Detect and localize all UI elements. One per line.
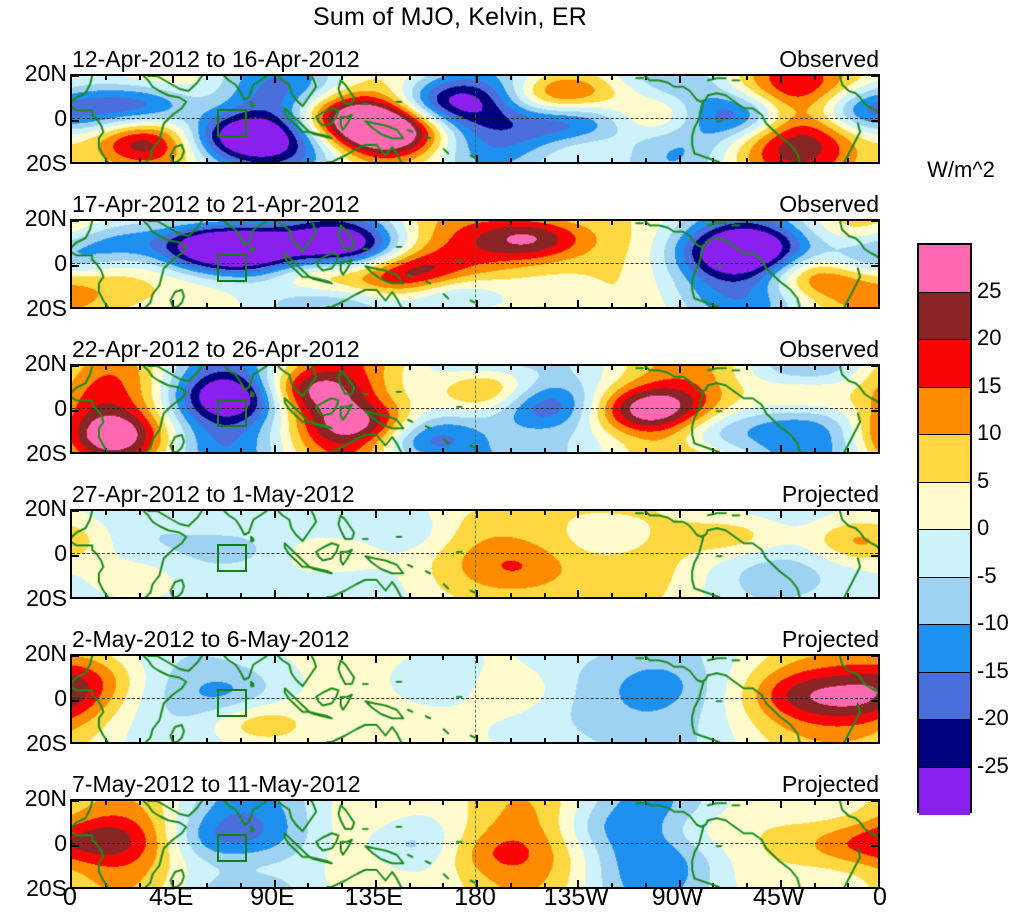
- map-panel: 12-Apr-2012 to 16-Apr-2012Observed20N020…: [70, 74, 880, 164]
- panel-date-range: 2-May-2012 to 6-May-2012: [72, 626, 349, 652]
- map-plot-area: [70, 364, 880, 454]
- colorbar-tick-label: -15: [977, 660, 1021, 682]
- panel-date-range: 12-Apr-2012 to 16-Apr-2012: [72, 46, 360, 72]
- colorbar-band: [919, 293, 970, 341]
- region-box-marker: [217, 689, 247, 717]
- x-axis-tick-label: 135E: [329, 884, 419, 910]
- map-plot-area: [70, 74, 880, 164]
- region-box-marker: [217, 544, 247, 572]
- x-axis-tick-label: 90E: [228, 884, 318, 910]
- region-box-marker: [217, 399, 247, 427]
- panel-status-label: Projected: [782, 481, 879, 507]
- colorbar-band: [919, 673, 970, 721]
- colorbar-band: [919, 435, 970, 483]
- colorbar-tick-label: -20: [977, 707, 1021, 729]
- panel-date-range: 22-Apr-2012 to 26-Apr-2012: [72, 336, 360, 362]
- colorbar-tick-label: 20: [977, 327, 1021, 349]
- map-plot-area: [70, 799, 880, 889]
- y-axis-tick-label: 0: [0, 397, 67, 420]
- colorbar-tick-label: 5: [977, 470, 1021, 492]
- y-axis-tick-label: 0: [0, 252, 67, 275]
- x-axis-tick-label: 45E: [126, 884, 216, 910]
- colorbar-tick-label: -5: [977, 565, 1021, 587]
- y-axis-tick-label: 20S: [0, 297, 67, 320]
- coastline-overlay: [72, 366, 878, 452]
- x-axis-tick-label: 90W: [633, 884, 723, 910]
- region-box-marker: [217, 834, 247, 862]
- y-axis-tick-label: 20N: [0, 787, 67, 810]
- y-axis-tick-label: 0: [0, 107, 67, 130]
- colorbar-units-label: W/m^2: [905, 158, 1017, 182]
- colorbar-tick-label: 0: [977, 517, 1021, 539]
- y-axis-tick-label: 0: [0, 832, 67, 855]
- map-plot-area: [70, 219, 880, 309]
- panel-status-label: Observed: [779, 336, 879, 362]
- x-axis-tick-label: 0: [835, 884, 925, 910]
- y-axis-tick-label: 20S: [0, 152, 67, 175]
- colorbar-band: [919, 720, 970, 768]
- colorbar: [917, 243, 972, 813]
- map-panel: 2-May-2012 to 6-May-2012Projected20N020S: [70, 654, 880, 744]
- x-axis-tick-label: 180: [430, 884, 520, 910]
- map-panel: 22-Apr-2012 to 26-Apr-2012Observed20N020…: [70, 364, 880, 454]
- y-axis-tick-label: 20N: [0, 352, 67, 375]
- y-axis-tick-label: 20S: [0, 732, 67, 755]
- colorbar-band: [919, 578, 970, 626]
- x-axis-tick-label: 45W: [734, 884, 824, 910]
- colorbar-tick-label: 25: [977, 280, 1021, 302]
- coastline-overlay: [72, 801, 878, 887]
- x-axis-tick-label: 135W: [531, 884, 621, 910]
- colorbar-tick-label: 15: [977, 375, 1021, 397]
- panel-status-label: Projected: [782, 771, 879, 797]
- region-box-marker: [217, 109, 247, 137]
- panel-date-range: 7-May-2012 to 11-May-2012: [72, 771, 361, 797]
- panel-status-label: Projected: [782, 626, 879, 652]
- colorbar-band: [919, 625, 970, 673]
- colorbar-band: [919, 768, 970, 816]
- coastline-overlay: [72, 656, 878, 742]
- colorbar-band: [919, 388, 970, 436]
- panel-date-range: 27-Apr-2012 to 1-May-2012: [72, 481, 355, 507]
- coastline-overlay: [72, 511, 878, 597]
- y-axis-tick-label: 0: [0, 687, 67, 710]
- map-panel: 27-Apr-2012 to 1-May-2012Projected20N020…: [70, 509, 880, 599]
- figure-canvas: Sum of MJO, Kelvin, ER 12-Apr-2012 to 16…: [0, 0, 1021, 921]
- panel-status-label: Observed: [779, 191, 879, 217]
- map-panel: 17-Apr-2012 to 21-Apr-2012Observed20N020…: [70, 219, 880, 309]
- colorbar-tick-label: -25: [977, 755, 1021, 777]
- coastline-overlay: [72, 221, 878, 307]
- map-panel: 7-May-2012 to 11-May-2012Projected20N020…: [70, 799, 880, 889]
- region-box-marker: [217, 254, 247, 282]
- page-title: Sum of MJO, Kelvin, ER: [0, 2, 900, 32]
- panel-date-range: 17-Apr-2012 to 21-Apr-2012: [72, 191, 360, 217]
- x-axis-tick-label: 0: [25, 884, 115, 910]
- colorbar-band: [919, 530, 970, 578]
- colorbar-band: [919, 483, 970, 531]
- colorbar-band: [919, 245, 970, 293]
- colorbar-tick-label: 10: [977, 422, 1021, 444]
- colorbar-band: [919, 340, 970, 388]
- y-axis-tick-label: 20S: [0, 587, 67, 610]
- map-plot-area: [70, 654, 880, 744]
- y-axis-tick-label: 20N: [0, 62, 67, 85]
- y-axis-tick-label: 20N: [0, 497, 67, 520]
- y-axis-tick-label: 0: [0, 542, 67, 565]
- y-axis-tick-label: 20S: [0, 442, 67, 465]
- y-axis-tick-label: 20N: [0, 207, 67, 230]
- coastline-overlay: [72, 76, 878, 162]
- y-axis-tick-label: 20N: [0, 642, 67, 665]
- map-plot-area: [70, 509, 880, 599]
- panel-status-label: Observed: [779, 46, 879, 72]
- colorbar-tick-label: -10: [977, 612, 1021, 634]
